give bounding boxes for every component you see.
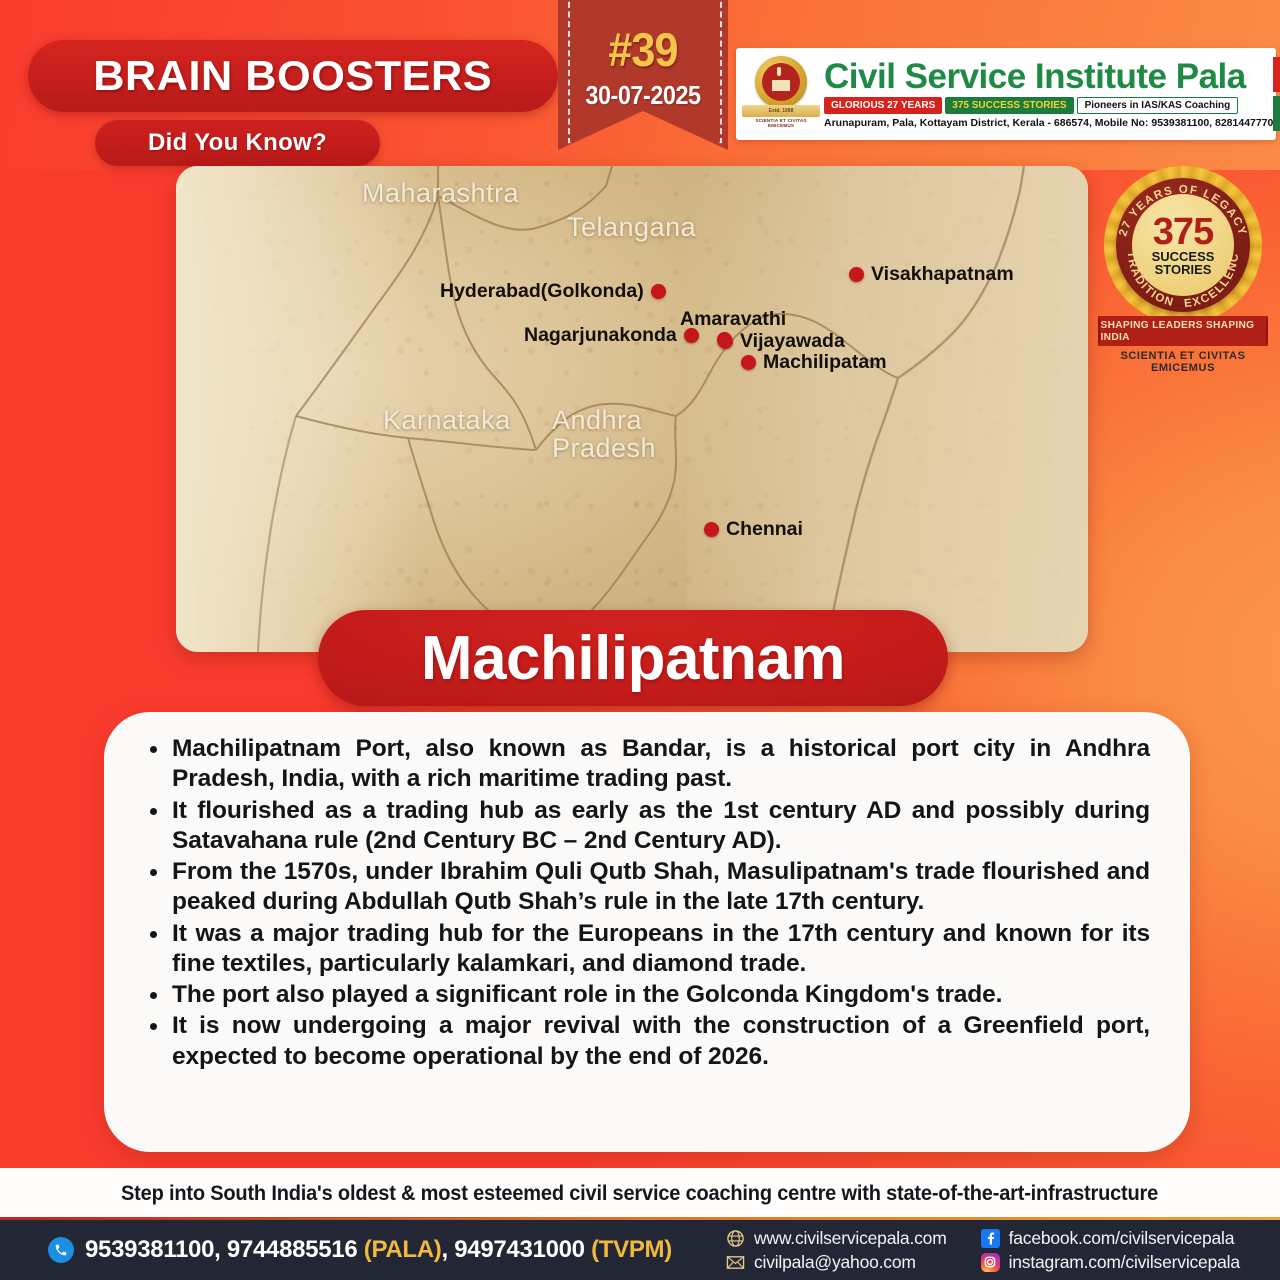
tagline-text: Step into South India's oldest & most es… — [121, 1181, 1158, 1206]
chip-success-stories: 375 SUCCESS STORIES — [945, 97, 1073, 114]
list-item: From the 1570s, under Ibrahim Quli Qutb … — [172, 857, 1150, 918]
state-label-karnataka: Karnataka — [383, 405, 511, 436]
phones-second: , 9497431000 — [442, 1236, 592, 1263]
city-label-machilipatam: Machilipatam — [763, 351, 887, 374]
city-label-chennai: Chennai — [726, 518, 803, 541]
city-label-visakhapatnam: Visakhapatnam — [871, 263, 1014, 286]
website-label: www.civilservicepala.com — [754, 1228, 947, 1249]
city-visakhapatnam: Visakhapatnam — [849, 263, 1014, 286]
badge-motto: SCIENTIA ET CIVITAS EMICEMUS — [1098, 350, 1268, 374]
phone-tag-pala: (PALA) — [364, 1236, 442, 1263]
institute-address: Arunapuram, Pala, Kottayam District, Ker… — [824, 117, 1273, 129]
institute-seal-icon: Estd. 1998 SCIENTIA ET CIVITAS EMICEMUS — [742, 53, 820, 135]
badge-success-label: SUCCESS — [1152, 250, 1215, 263]
city-label-hyderabad: Hyderabad(Golkonda) — [440, 280, 644, 303]
facebook-icon — [981, 1229, 1000, 1248]
logo-square-green-2 — [1273, 96, 1280, 131]
footer-web-contacts: www.civilservicepala.com civilpala@yahoo… — [726, 1228, 947, 1273]
footer-instagram-row[interactable]: instagram.com/civilservicepala — [981, 1252, 1240, 1273]
city-hyderabad: Hyderabad(Golkonda) — [440, 280, 666, 303]
city-label-vijayawada: Vijayawada — [740, 330, 845, 353]
city-label-nagarjunakonda: Nagarjunakonda — [524, 324, 677, 347]
chip-pioneers: Pioneers in IAS/KAS Coaching — [1077, 97, 1239, 114]
state-label-pradesh: Pradesh — [552, 433, 656, 464]
globe-icon — [726, 1229, 745, 1248]
phones-main: 9539381100, 9744885516 — [85, 1236, 357, 1263]
badge-stories-label: STORIES — [1155, 263, 1212, 276]
list-item: It was a major trading hub for the Europ… — [172, 919, 1150, 980]
city-nagarjunakonda: Nagarjunakonda — [524, 324, 699, 347]
city-dot-vijayawada — [718, 334, 733, 349]
page-title: Machilipatnam — [421, 623, 845, 694]
footer-facebook-row[interactable]: facebook.com/civilservicepala — [981, 1228, 1240, 1249]
badge-number: 375 — [1153, 214, 1213, 250]
city-machilipatam: Machilipatam — [741, 351, 887, 374]
city-dot-chennai — [704, 522, 719, 537]
brain-boosters-label: BRAIN BOOSTERS — [94, 52, 493, 100]
envelope-icon — [726, 1253, 745, 1272]
city-vijayawada: Vijayawada — [718, 330, 845, 353]
topic-title-banner: Machilipatnam — [318, 610, 948, 706]
city-dot-hyderabad — [651, 284, 666, 299]
state-label-maharashtra: Maharashtra — [362, 178, 519, 209]
badge-ribbon-label: SHAPING LEADERS SHAPING INDIA — [1101, 319, 1266, 343]
list-item: It flourished as a trading hub as early … — [172, 796, 1150, 857]
footer-website-row[interactable]: www.civilservicepala.com — [726, 1228, 947, 1249]
state-label-andhra: Andhra — [552, 405, 642, 436]
issue-number: #39 — [565, 22, 721, 77]
list-item: Machilipatnam Port, also known as Bandar… — [172, 734, 1150, 795]
city-dot-visakhapatnam — [849, 267, 864, 282]
logo-square-red — [1273, 57, 1280, 92]
badge-ribbon: SHAPING LEADERS SHAPING INDIA — [1098, 316, 1268, 346]
institute-logo-bar: Estd. 1998 SCIENTIA ET CIVITAS EMICEMUS … — [736, 48, 1276, 140]
state-label-telangana: Telangana — [567, 212, 696, 243]
seal-motto-label: SCIENTIA ET CIVITAS EMICEMUS — [742, 118, 820, 128]
poster: BRAIN BOOSTERS Did You Know? #39 30-07-2… — [0, 0, 1280, 1280]
city-chennai: Chennai — [704, 518, 803, 541]
legacy-badge: 27 YEARS OF LEGACY TRADITION EXCELLENCE … — [1098, 166, 1268, 366]
issue-date: 30-07-2025 — [567, 80, 720, 111]
footer-phones: 9539381100, 9744885516 (PALA), 949743100… — [48, 1236, 672, 1264]
institute-name: Civil Service Institute Pala — [824, 59, 1273, 94]
list-item: The port also played a significant role … — [172, 980, 1150, 1010]
tagline-band: Step into South India's oldest & most es… — [0, 1168, 1280, 1218]
footer-email-row[interactable]: civilpala@yahoo.com — [726, 1252, 947, 1273]
footer-social-contacts: facebook.com/civilservicepala instagram.… — [981, 1228, 1240, 1273]
facts-list: Machilipatnam Port, also known as Bandar… — [138, 734, 1156, 1072]
seal-estd-label: Estd. 1998 — [742, 105, 820, 117]
badge-core: 375 SUCCESS STORIES — [1132, 194, 1234, 296]
list-item: It is now undergoing a major revival wit… — [172, 1011, 1150, 1072]
email-label: civilpala@yahoo.com — [754, 1252, 916, 1273]
chip-glorious-years: GLORIOUS 27 YEARS — [824, 97, 942, 114]
instagram-label: instagram.com/civilservicepala — [1009, 1252, 1240, 1273]
brain-boosters-banner: BRAIN BOOSTERS — [28, 40, 558, 112]
facts-card: Machilipatnam Port, also known as Bandar… — [104, 712, 1190, 1152]
phone-tag-tvpm: (TVPM) — [591, 1236, 672, 1263]
instagram-icon — [981, 1253, 1000, 1272]
phone-icon — [48, 1237, 74, 1263]
did-you-know-banner: Did You Know? — [95, 120, 380, 166]
map-card: Maharashtra Telangana Karnataka Andhra P… — [176, 166, 1088, 652]
footer-bar: 9539381100, 9744885516 (PALA), 949743100… — [0, 1220, 1280, 1280]
did-you-know-label: Did You Know? — [148, 129, 327, 157]
city-label-amaravathi: Amaravathi — [680, 308, 786, 331]
footer-phone-text: 9539381100, 9744885516 (PALA), 949743100… — [85, 1236, 672, 1264]
facebook-label: facebook.com/civilservicepala — [1009, 1228, 1235, 1249]
logo-color-grid — [1273, 57, 1280, 131]
city-dot-machilipatam — [741, 355, 756, 370]
